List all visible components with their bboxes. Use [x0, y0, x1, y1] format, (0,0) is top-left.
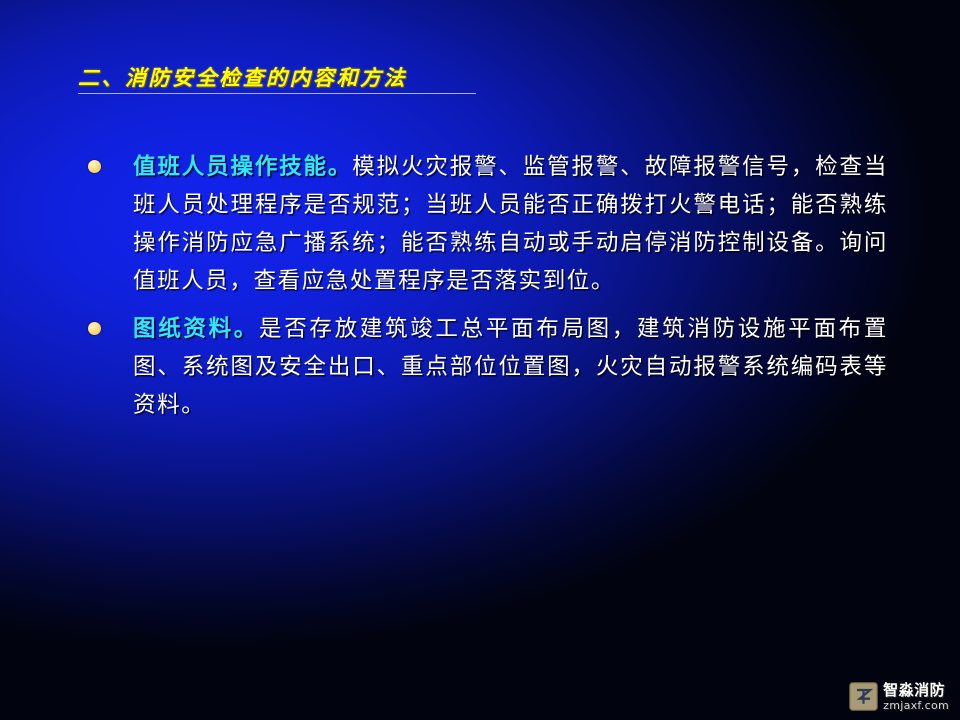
slide-title-block: 二、消防安全检查的内容和方法: [78, 64, 508, 94]
watermark-text: 智淼消防 zmjaxf.com: [883, 683, 949, 711]
bullet-circle-icon: [88, 160, 101, 173]
bullet-paragraph: 值班人员操作技能。模拟火灾报警、监管报警、故障报警信号，检查当班人员处理程序是否…: [88, 148, 888, 300]
presentation-slide: 二、消防安全检查的内容和方法 值班人员操作技能。模拟火灾报警、监管报警、故障报警…: [0, 0, 960, 720]
bullet-circle-icon: [88, 322, 101, 335]
bullet-lead-text: 值班人员操作技能。: [133, 154, 352, 180]
page-title: 二、消防安全检查的内容和方法: [78, 64, 508, 92]
bullet-item: 值班人员操作技能。模拟火灾报警、监管报警、故障报警信号，检查当班人员处理程序是否…: [88, 148, 888, 300]
title-underline-divider: [78, 93, 476, 94]
watermark: 智淼消防 zmjaxf.com: [844, 679, 954, 714]
bullet-item: 图纸资料。是否存放建筑竣工总平面布局图，建筑消防设施平面布置图、系统图及安全出口…: [88, 310, 888, 424]
bullet-paragraph: 图纸资料。是否存放建筑竣工总平面布局图，建筑消防设施平面布置图、系统图及安全出口…: [88, 310, 888, 424]
watermark-url: zmjaxf.com: [883, 700, 949, 711]
slide-body: 值班人员操作技能。模拟火灾报警、监管报警、故障报警信号，检查当班人员处理程序是否…: [88, 148, 888, 434]
zm-monogram-logo-icon: [849, 682, 878, 711]
bullet-lead-text: 图纸资料。: [133, 316, 259, 342]
watermark-brand-name: 智淼消防: [883, 683, 949, 698]
